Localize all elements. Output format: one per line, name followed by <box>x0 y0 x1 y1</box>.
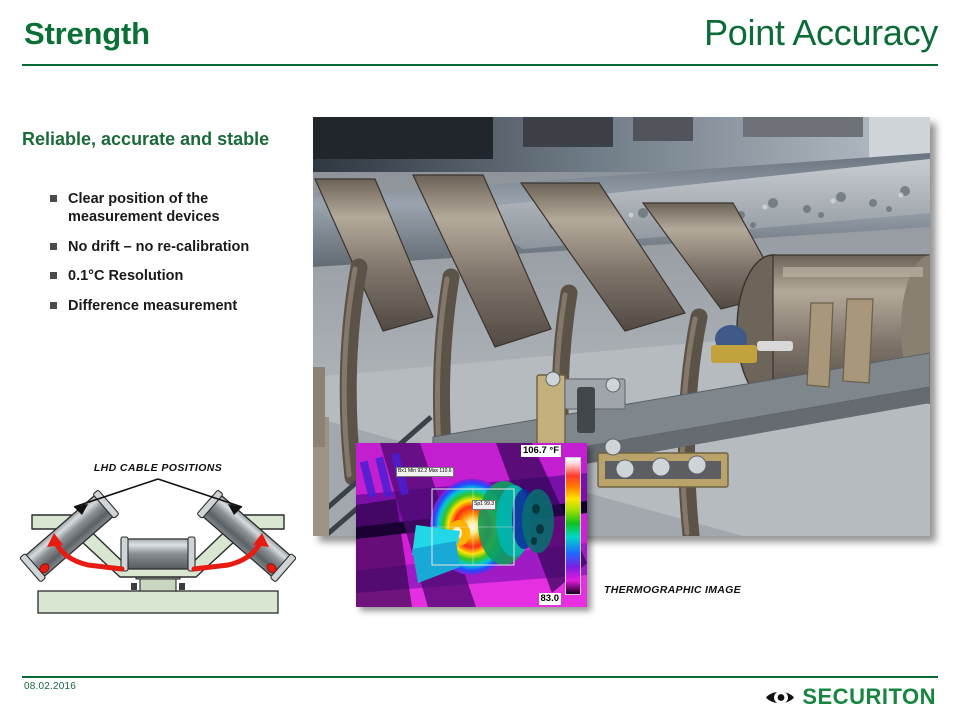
idler-diagram-svg <box>18 477 298 622</box>
eye-icon <box>765 689 795 706</box>
footer-date: 08.02.2016 <box>24 681 76 692</box>
bullet-square-icon <box>50 272 57 279</box>
list-item: No drift – no re-calibration <box>50 238 300 256</box>
thermographic-image: 106.7 °F 83.0 Bx1 Min 92.2 Max 110.6 Sp1… <box>356 443 587 607</box>
list-item-label: No drift – no re-calibration <box>68 239 249 255</box>
section-heading: Reliable, accurate and stable <box>22 128 272 152</box>
list-item-label: Clear position of the measurement device… <box>68 191 220 225</box>
bullet-square-icon <box>50 195 57 202</box>
page-title: Strength <box>24 16 150 52</box>
feature-bullet-list: Clear position of the measurement device… <box>50 190 300 326</box>
page-subtitle: Point Accuracy <box>704 12 938 54</box>
bullet-square-icon <box>50 243 57 250</box>
securiton-logo: SECURITON <box>765 686 936 708</box>
thermal-image-caption: THERMOGRAPHIC IMAGE <box>604 584 741 596</box>
list-item: Clear position of the measurement device… <box>50 190 300 227</box>
diagram-caption: LHD CABLE POSITIONS <box>18 462 298 474</box>
list-item-label: 0.1°C Resolution <box>68 268 183 284</box>
bullet-square-icon <box>50 302 57 309</box>
thermal-max-temperature: 106.7 °F <box>521 445 561 457</box>
list-item: 0.1°C Resolution <box>50 267 300 285</box>
idler-cable-position-diagram: LHD CABLE POSITIONS <box>18 462 298 622</box>
list-item: Difference measurement <box>50 297 300 315</box>
footer-divider <box>22 676 938 678</box>
securiton-wordmark: SECURITON <box>802 686 936 708</box>
thermal-illustration <box>356 443 587 607</box>
list-item-label: Difference measurement <box>68 298 237 314</box>
slide-header: Strength Point Accuracy <box>0 0 960 72</box>
thermal-color-scale <box>565 457 581 595</box>
thermal-box-measurement-label: Bx1 Min 92.2 Max 110.6 <box>396 467 454 477</box>
thermal-min-temperature: 83.0 <box>539 593 562 605</box>
thermal-spot-measurement-label: Sp1 99.3 <box>472 500 496 510</box>
header-divider <box>22 64 938 66</box>
